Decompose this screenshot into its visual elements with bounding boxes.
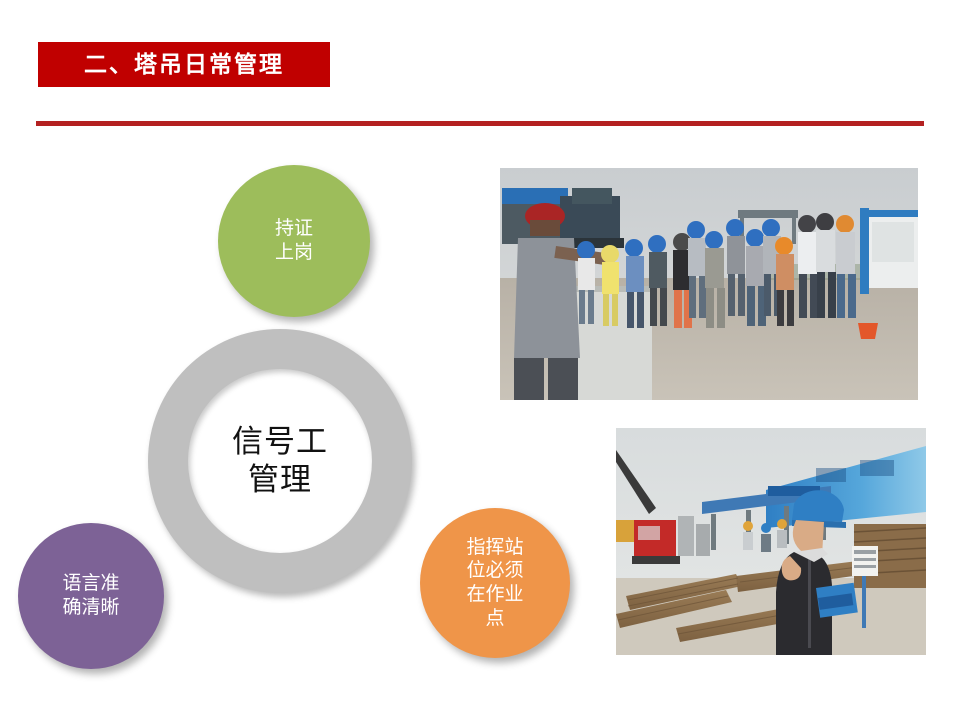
safety-briefing-photo xyxy=(500,168,918,400)
bubble-command-post-at-worksite[interactable]: 指挥站 位必须 在作业 点 xyxy=(420,508,570,658)
center-label-line-2: 管理 xyxy=(248,461,312,499)
bubble-orange-line-2: 位必须 xyxy=(466,559,523,583)
bubble-certified-employment-label: 持证 上岗 xyxy=(275,217,313,265)
bubble-clear-accurate-language[interactable]: 语言准 确清晰 xyxy=(18,523,164,669)
center-ring: 信号工 管理 xyxy=(148,329,412,593)
bubble-orange-line-4: 点 xyxy=(466,607,523,631)
center-ring-inner: 信号工 管理 xyxy=(188,369,372,553)
bubble-clear-accurate-language-label: 语言准 确清晰 xyxy=(62,572,119,620)
bubble-purple-line-1: 语言准 xyxy=(62,572,119,596)
bubble-green-line-1: 持证 xyxy=(275,217,313,241)
page-title: 二、塔吊日常管理 xyxy=(84,53,284,76)
center-label-line-1: 信号工 xyxy=(232,423,328,461)
bubble-certified-employment[interactable]: 持证 上岗 xyxy=(218,165,370,317)
bubble-orange-line-3: 在作业 xyxy=(466,583,523,607)
bubble-purple-line-2: 确清晰 xyxy=(62,596,119,620)
signalman-photo-graphic xyxy=(616,428,926,655)
signalman-photo xyxy=(616,428,926,655)
slide: 二、塔吊日常管理 信号工 管理 持证 上岗 语言准 确清晰 xyxy=(0,0,960,720)
section-title-banner: 二、塔吊日常管理 xyxy=(38,42,330,87)
bubble-orange-line-1: 指挥站 xyxy=(466,536,523,560)
bubble-command-post-at-worksite-label: 指挥站 位必须 在作业 点 xyxy=(466,536,523,631)
safety-briefing-photo-graphic xyxy=(500,168,918,400)
title-divider-rule xyxy=(36,121,924,126)
bubble-green-line-2: 上岗 xyxy=(275,241,313,265)
